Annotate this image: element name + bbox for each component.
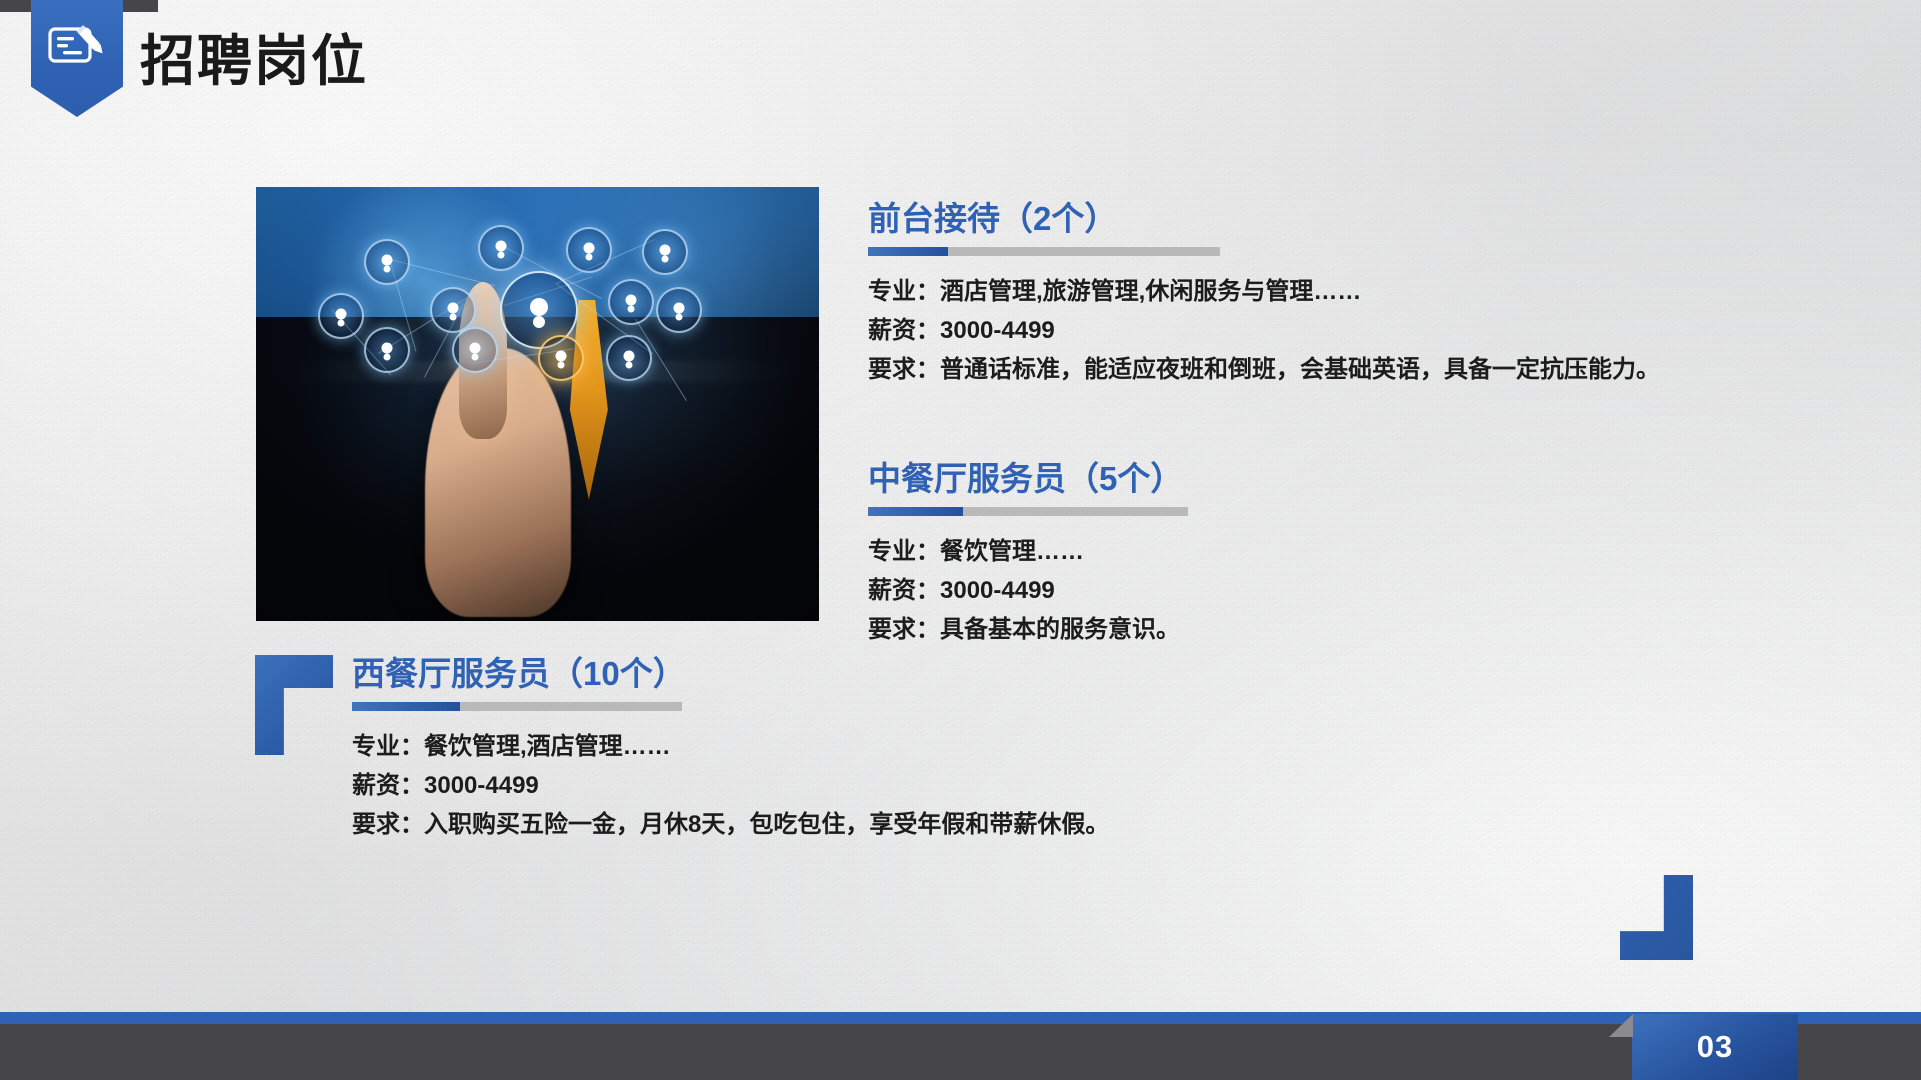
job-major-label: 专业：	[352, 733, 424, 760]
job-title: 西餐厅服务员（10个）	[352, 655, 1109, 693]
job-salary-line: 薪资：3000-4499	[868, 572, 1188, 611]
job-divider	[868, 247, 1220, 256]
photo-person-node	[318, 293, 364, 339]
job-divider	[868, 507, 1188, 516]
job-salary-value: 3000-4499	[940, 577, 1055, 604]
photo-person-node	[364, 327, 410, 373]
job-salary-value: 3000-4499	[940, 317, 1055, 344]
job-salary-line: 薪资：3000-4499	[868, 312, 1660, 351]
job-block-chinese-restaurant: 中餐厅服务员（5个） 专业：餐饮管理…… 薪资：3000-4499 要求：具备基…	[868, 460, 1188, 650]
corner-bracket-decoration-left	[255, 655, 333, 755]
job-major-line: 专业：酒店管理,旅游管理,休闲服务与管理……	[868, 273, 1660, 312]
page-title: 招聘岗位	[140, 16, 368, 96]
job-major-value: 餐饮管理……	[940, 538, 1084, 565]
job-major-label: 专业：	[868, 538, 940, 565]
page-number: 03	[1697, 1029, 1733, 1065]
job-divider-fill	[868, 247, 948, 256]
job-divider-fill	[352, 702, 460, 711]
header-pennant-banner	[31, 0, 123, 117]
photo-person-node-highlight	[538, 335, 584, 381]
job-title: 中餐厅服务员（5个）	[868, 460, 1188, 498]
job-major-line: 专业：餐饮管理,酒店管理……	[352, 728, 1109, 767]
photo-person-node	[656, 287, 702, 333]
photo-person-node	[478, 225, 524, 271]
job-requirement-label: 要求：	[352, 811, 424, 838]
photo-person-node	[364, 239, 410, 285]
job-divider-fill	[868, 507, 963, 516]
job-salary-value: 3000-4499	[424, 772, 539, 799]
page-number-badge: 03	[1632, 1014, 1798, 1080]
job-salary-label: 薪资：	[868, 577, 940, 604]
job-requirement-line: 要求：普通话标准，能适应夜班和倒班，会基础英语，具备一定抗压能力。	[868, 351, 1660, 390]
job-block-front-desk: 前台接待（2个） 专业：酒店管理,旅游管理,休闲服务与管理…… 薪资：3000-…	[868, 200, 1660, 390]
hero-photo	[256, 187, 819, 621]
job-requirement-value: 具备基本的服务意识。	[940, 616, 1180, 643]
corner-bracket-decoration-right	[1620, 875, 1693, 960]
job-major-value: 餐饮管理,酒店管理……	[424, 733, 671, 760]
job-major-line: 专业：餐饮管理……	[868, 533, 1188, 572]
job-requirement-value: 普通话标准，能适应夜班和倒班，会基础英语，具备一定抗压能力。	[940, 356, 1660, 383]
photo-person-node	[452, 327, 498, 373]
job-detail-list: 专业：酒店管理,旅游管理,休闲服务与管理…… 薪资：3000-4499 要求：普…	[868, 273, 1660, 390]
job-divider	[352, 702, 682, 711]
job-block-western-restaurant: 西餐厅服务员（10个） 专业：餐饮管理,酒店管理…… 薪资：3000-4499 …	[352, 655, 1109, 845]
slide-root: 招聘岗位 前台接待（2个）	[0, 0, 1921, 1080]
job-requirement-label: 要求：	[868, 616, 940, 643]
job-requirement-line: 要求：入职购买五险一金，月休8天，包吃包住，享受年假和带薪休假。	[352, 806, 1109, 845]
job-requirement-line: 要求：具备基本的服务意识。	[868, 611, 1188, 650]
edit-document-icon	[47, 22, 107, 72]
job-major-value: 酒店管理,旅游管理,休闲服务与管理……	[940, 278, 1361, 305]
job-major-label: 专业：	[868, 278, 940, 305]
job-requirement-label: 要求：	[868, 356, 940, 383]
job-title: 前台接待（2个）	[868, 200, 1660, 238]
job-detail-list: 专业：餐饮管理…… 薪资：3000-4499 要求：具备基本的服务意识。	[868, 533, 1188, 650]
job-requirement-value: 入职购买五险一金，月休8天，包吃包住，享受年假和带薪休假。	[424, 811, 1109, 838]
job-salary-label: 薪资：	[352, 772, 424, 799]
job-salary-label: 薪资：	[868, 317, 940, 344]
photo-person-node	[606, 335, 652, 381]
photo-person-node	[566, 227, 612, 273]
job-detail-list: 专业：餐饮管理,酒店管理…… 薪资：3000-4499 要求：入职购买五险一金，…	[352, 728, 1109, 845]
photo-person-node	[642, 229, 688, 275]
job-salary-line: 薪资：3000-4499	[352, 767, 1109, 806]
photo-person-node	[430, 287, 476, 333]
photo-person-node	[608, 279, 654, 325]
